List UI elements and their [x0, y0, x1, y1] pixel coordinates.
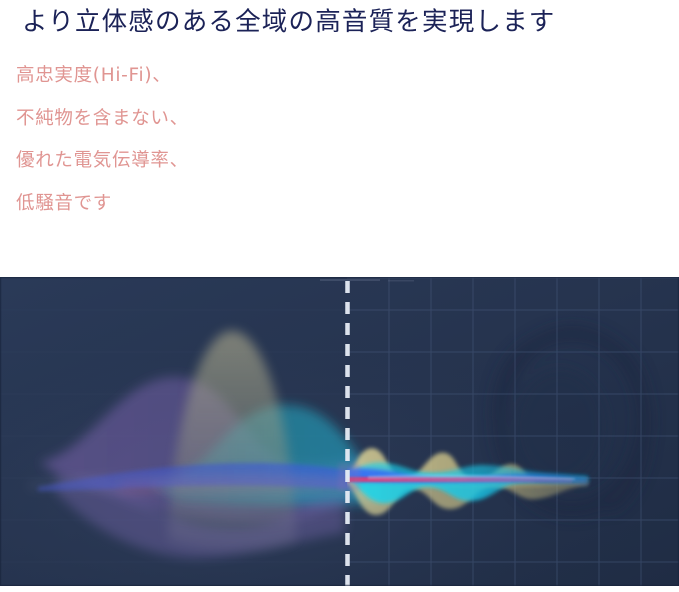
feature-line-2: 不純物を含まない、	[16, 98, 416, 141]
feature-list: 高忠実度(Hi-Fi)、 不純物を含まない、 優れた電気伝導率、 低騒音です	[16, 55, 416, 225]
feature-line-4: 低騒音です	[16, 183, 416, 226]
page-bottom-fill	[0, 586, 679, 592]
page-headline: より立体感のある全域の高音質を実現します	[22, 2, 662, 42]
feature-line-3: 優れた電気伝導率、	[16, 140, 416, 183]
feature-line-1: 高忠実度(Hi-Fi)、	[16, 55, 416, 98]
audio-waveform-visual	[0, 277, 679, 586]
copy-area: より立体感のある全域の高音質を実現します 高忠実度(Hi-Fi)、 不純物を含ま…	[0, 0, 679, 277]
waveform-svg	[0, 277, 679, 586]
